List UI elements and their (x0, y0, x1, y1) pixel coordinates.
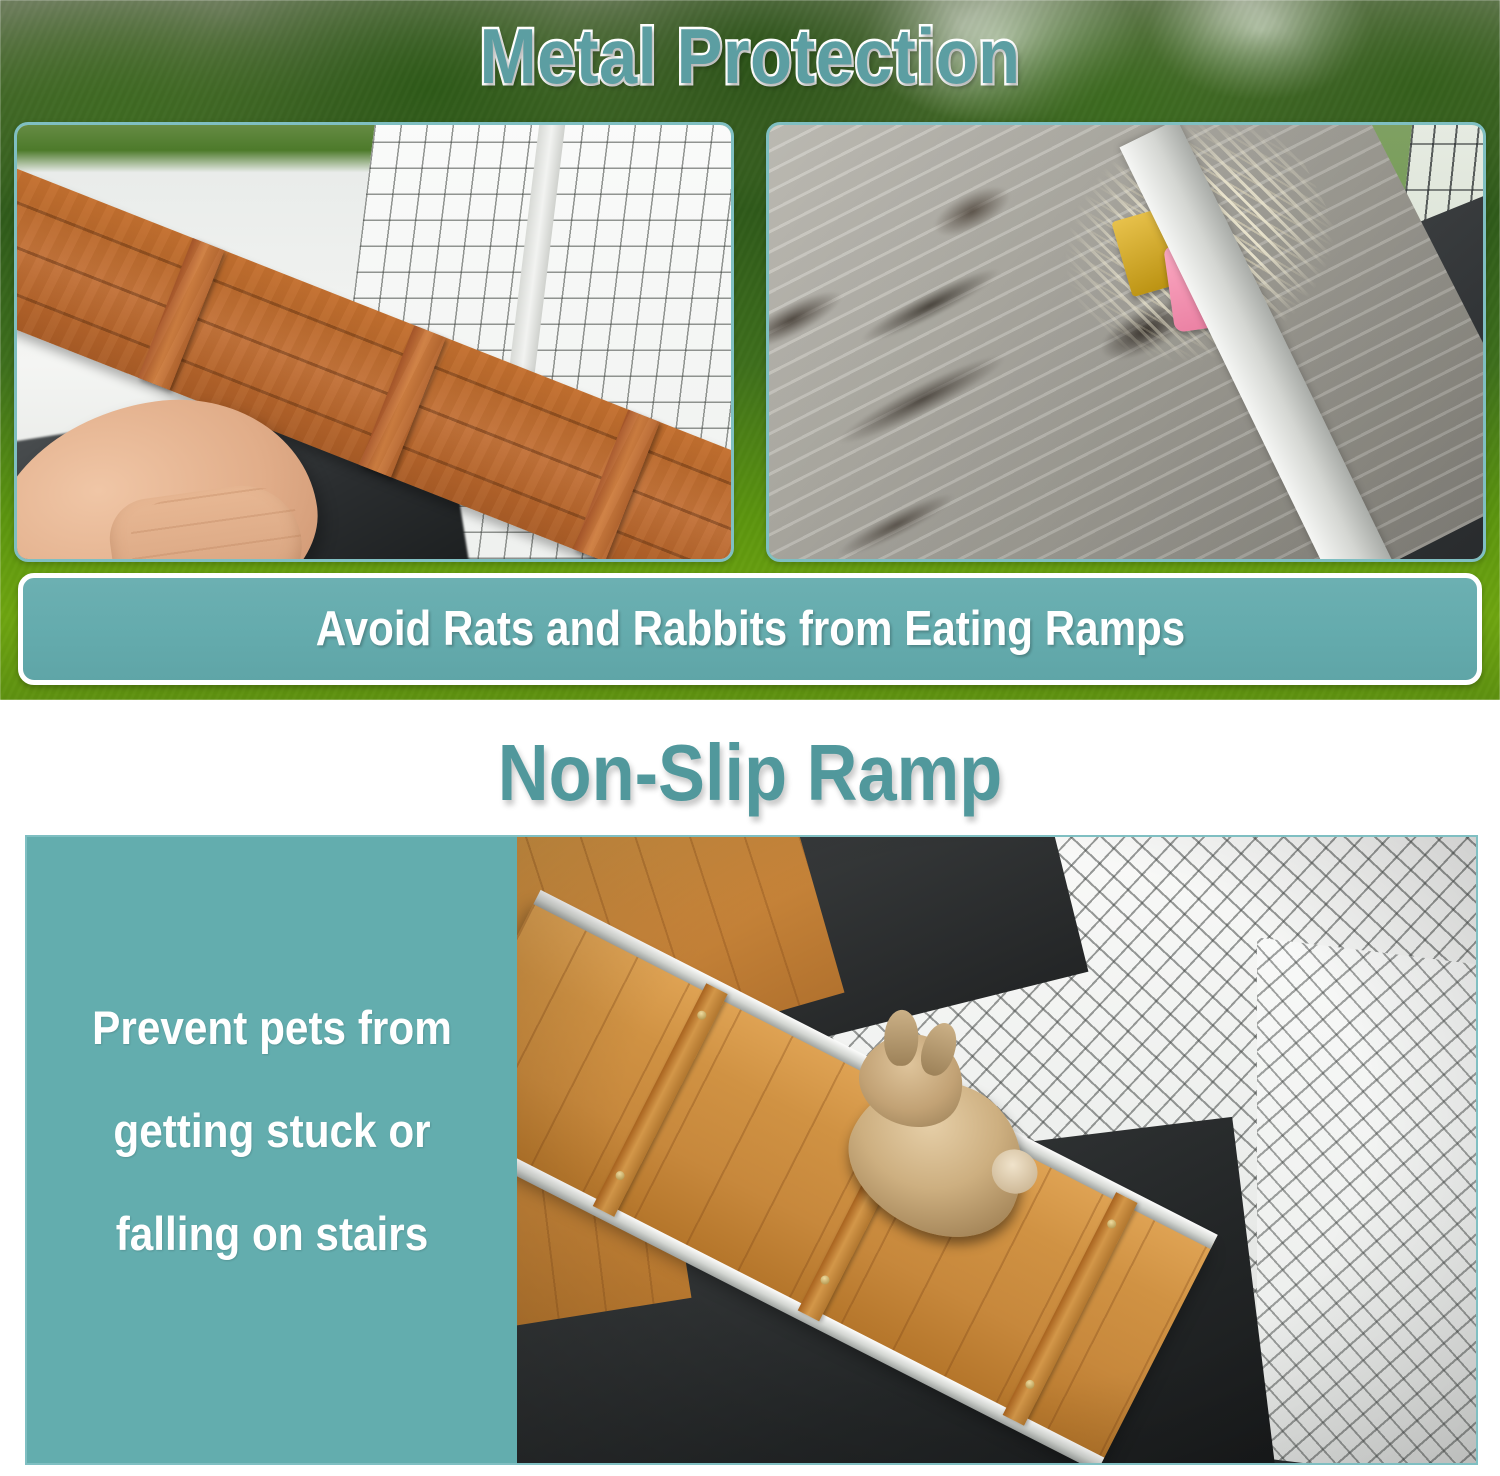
ramp-cleat (138, 238, 225, 390)
ramp-cleat (1003, 1192, 1138, 1426)
ramp-cleat (573, 410, 660, 559)
ramp-photo-content (17, 125, 731, 559)
non-slip-ramp-title: Non-Slip Ramp (90, 724, 1410, 822)
avoid-eating-ramps-banner: Avoid Rats and Rabbits from Eating Ramps (18, 573, 1482, 685)
photo-chewed-damaged-ramp (766, 122, 1486, 562)
ramp-cleat (359, 325, 446, 477)
infographic-page: Metal Protection (0, 0, 1500, 1476)
photo-hand-holding-metal-edged-ramp (14, 122, 734, 562)
wire-mesh-run-side (1257, 937, 1476, 1463)
photo-rabbit-on-non-slip-ramp (517, 837, 1476, 1463)
metal-protection-title: Metal Protection (90, 8, 1410, 104)
damaged-ramp-photo-content (769, 125, 1483, 559)
metal-protection-photo-row (14, 122, 1486, 562)
banner-label: Avoid Rats and Rabbits from Eating Ramps (315, 605, 1184, 654)
non-slip-ramp-section: Non-Slip Ramp Prevent pets from getting … (0, 700, 1500, 1476)
ramp-cleat (593, 983, 728, 1217)
caption-line: getting stuck or (75, 1107, 469, 1154)
metal-protection-section: Metal Protection (0, 0, 1500, 700)
non-slip-caption-panel: Prevent pets from getting stuck or falli… (27, 837, 517, 1463)
caption-line: falling on stairs (75, 1210, 469, 1257)
non-slip-feature-card: Prevent pets from getting stuck or falli… (25, 835, 1478, 1465)
caption-line: Prevent pets from (75, 1004, 469, 1051)
rabbit-ear (883, 1009, 919, 1066)
